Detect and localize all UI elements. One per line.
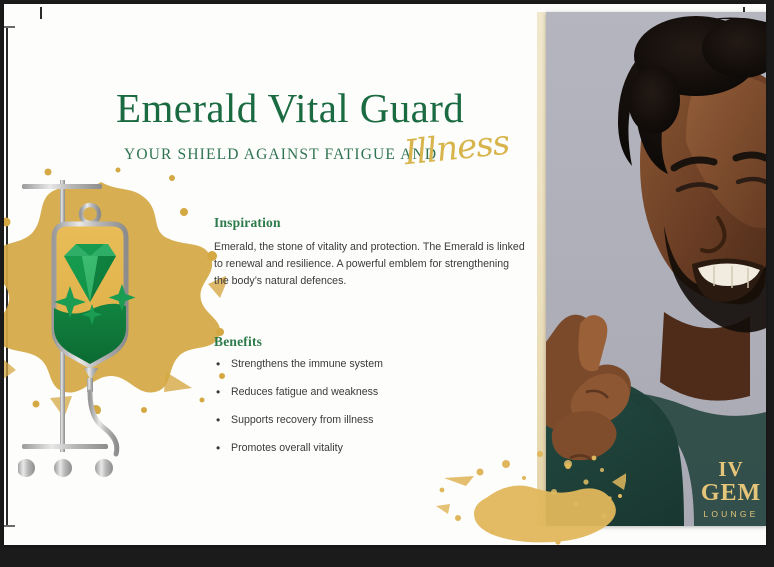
smiling-man-photo: IV GEM LOUNGE [546,12,766,526]
page-title: Emerald Vital Guard [116,86,536,132]
list-item: Promotes overall vitality [214,442,526,454]
document-viewer: Emerald Vital Guard YOUR SHIELD AGAINST … [0,0,774,567]
benefits-list: Strengthens the immune system Reduces fa… [214,358,526,454]
photo-border-strip [537,12,546,526]
inspiration-body: Emerald, the stone of vitality and prote… [214,239,526,290]
inspiration-section: Inspiration Emerald, the stone of vitali… [214,215,526,290]
benefits-section: Benefits Strengthens the immune system R… [214,334,526,470]
benefits-heading: Benefits [214,334,526,350]
list-item: Strengthens the immune system [214,358,526,370]
registration-tick-top-left [4,26,15,28]
registration-tick-bottom-left [4,525,15,527]
logo-line-lounge: LOUNGE [692,509,766,519]
logo-line-gem: GEM [692,481,766,506]
brand-logo: IV GEM LOUNGE [692,459,766,519]
subtitle-row: YOUR SHIELD AGAINST FATIGUE AND Illness [116,136,536,176]
crop-mark-left [6,26,8,526]
subtitle-caps: YOUR SHIELD AGAINST FATIGUE AND [124,146,437,164]
flyer-page: Emerald Vital Guard YOUR SHIELD AGAINST … [4,4,766,545]
headline-block: Emerald Vital Guard YOUR SHIELD AGAINST … [116,86,536,176]
list-item: Reduces fatigue and weakness [214,386,526,398]
list-item: Supports recovery from illness [214,414,526,426]
logo-line-iv: IV [692,459,766,481]
photo-panel: IV GEM LOUNGE [537,12,766,540]
iv-drip-stand-icon [18,172,198,484]
inspiration-heading: Inspiration [214,215,526,231]
crop-mark-top-left [40,7,42,19]
